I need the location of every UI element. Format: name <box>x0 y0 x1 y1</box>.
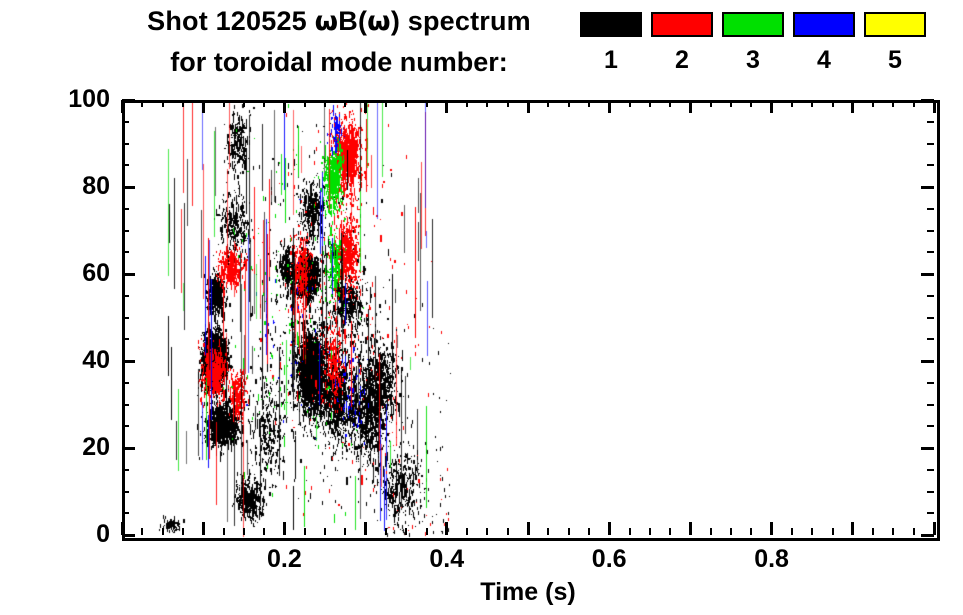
x-tick-label-0.6: 0.6 <box>564 547 654 572</box>
x-major-tick <box>608 100 611 113</box>
x-major-tick <box>202 522 205 535</box>
x-tick-label-0.4: 0.4 <box>402 547 492 572</box>
x-minor-tick <box>710 100 712 107</box>
legend-label-3: 3 <box>722 48 784 73</box>
x-minor-tick <box>730 100 732 107</box>
x-minor-tick <box>344 528 346 535</box>
x-major-tick <box>445 522 448 535</box>
legend-item-2[interactable]: 2 <box>651 12 713 90</box>
x-minor-tick <box>324 100 326 107</box>
y-minor-tick <box>122 230 129 232</box>
x-minor-tick <box>750 100 752 107</box>
y-major-tick <box>122 186 135 189</box>
x-major-tick <box>364 100 367 113</box>
y-tick-label-60: 60 <box>40 261 110 286</box>
x-minor-tick <box>405 528 407 535</box>
x-minor-tick <box>263 528 265 535</box>
x-minor-tick <box>162 528 164 535</box>
legend-item-4[interactable]: 4 <box>793 12 855 90</box>
y-major-tick <box>921 99 934 102</box>
x-major-tick <box>689 522 692 535</box>
x-minor-tick <box>547 528 549 535</box>
y-minor-tick <box>927 121 934 123</box>
x-major-tick <box>851 100 854 113</box>
x-minor-tick <box>426 100 428 107</box>
y-major-tick <box>122 360 135 363</box>
y-major-tick <box>921 186 934 189</box>
legend-swatch-1 <box>580 12 642 37</box>
spectrogram-figure: Shot 120525 ωB(ω) spectrum for toroidal … <box>0 0 963 615</box>
x-minor-tick <box>811 100 813 107</box>
x-minor-tick <box>324 528 326 535</box>
y-minor-tick <box>122 469 129 471</box>
x-major-tick <box>121 100 124 113</box>
legend-item-3[interactable]: 3 <box>722 12 784 90</box>
y-major-tick <box>921 534 934 537</box>
y-minor-tick <box>122 208 129 210</box>
x-minor-tick <box>182 100 184 107</box>
x-minor-tick <box>832 528 834 535</box>
y-major-tick <box>122 534 135 537</box>
x-minor-tick <box>162 100 164 107</box>
x-minor-tick <box>629 100 631 107</box>
y-minor-tick <box>927 469 934 471</box>
legend-swatch-3 <box>722 12 784 37</box>
x-minor-tick <box>649 100 651 107</box>
x-minor-tick <box>486 528 488 535</box>
x-major-tick <box>770 100 773 113</box>
y-minor-tick <box>927 404 934 406</box>
y-major-tick <box>122 99 135 102</box>
title-shot-prefix: Shot 120525 <box>147 6 315 36</box>
y-minor-tick <box>122 317 129 319</box>
x-tick-label-0.2: 0.2 <box>239 547 329 572</box>
legend-label-2: 2 <box>651 48 713 73</box>
y-tick-label-40: 40 <box>40 348 110 373</box>
x-minor-tick <box>466 528 468 535</box>
y-minor-tick <box>122 404 129 406</box>
x-minor-tick <box>426 528 428 535</box>
x-major-tick <box>770 522 773 535</box>
y-minor-tick <box>927 425 934 427</box>
y-major-tick <box>122 273 135 276</box>
x-minor-tick <box>243 528 245 535</box>
y-minor-tick <box>927 295 934 297</box>
x-major-tick <box>933 100 936 113</box>
y-minor-tick <box>927 512 934 514</box>
y-minor-tick <box>927 143 934 145</box>
x-minor-tick <box>243 100 245 107</box>
x-minor-tick <box>791 100 793 107</box>
x-major-tick <box>445 100 448 113</box>
x-major-tick <box>202 100 205 113</box>
x-minor-tick <box>507 100 509 107</box>
x-minor-tick <box>385 528 387 535</box>
omega-symbol-1: ω <box>315 6 339 37</box>
y-minor-tick <box>122 491 129 493</box>
x-minor-tick <box>466 100 468 107</box>
y-minor-tick <box>927 164 934 166</box>
y-minor-tick <box>122 512 129 514</box>
omega-symbol-2: ω <box>367 6 391 37</box>
x-minor-tick <box>223 100 225 107</box>
x-minor-tick <box>811 528 813 535</box>
x-minor-tick <box>629 528 631 535</box>
plot-area <box>122 100 940 541</box>
y-tick-label-20: 20 <box>40 435 110 460</box>
legend-label-5: 5 <box>864 48 926 73</box>
y-major-tick <box>921 360 934 363</box>
x-minor-tick <box>913 528 915 535</box>
y-minor-tick <box>122 143 129 145</box>
x-tick-label-0.8: 0.8 <box>727 547 817 572</box>
x-minor-tick <box>588 100 590 107</box>
x-minor-tick <box>669 528 671 535</box>
x-minor-tick <box>892 528 894 535</box>
x-minor-tick <box>344 100 346 107</box>
figure-title-line-1: Shot 120525 ωB(ω) spectrum <box>104 6 574 37</box>
y-minor-tick <box>122 251 129 253</box>
x-major-tick <box>527 522 530 535</box>
x-minor-tick <box>547 100 549 107</box>
x-major-tick <box>851 522 854 535</box>
legend: 12345 <box>580 12 930 90</box>
x-major-tick <box>689 100 692 113</box>
y-minor-tick <box>927 230 934 232</box>
x-axis-title: Time (s) <box>122 578 934 607</box>
x-minor-tick <box>892 100 894 107</box>
x-minor-tick <box>507 528 509 535</box>
x-minor-tick <box>730 528 732 535</box>
x-minor-tick <box>263 100 265 107</box>
x-minor-tick <box>791 528 793 535</box>
y-minor-tick <box>122 121 129 123</box>
x-major-tick <box>364 522 367 535</box>
y-tick-label-0: 0 <box>40 522 110 547</box>
x-major-tick <box>527 100 530 113</box>
x-minor-tick <box>385 100 387 107</box>
legend-swatch-4 <box>793 12 855 37</box>
x-minor-tick <box>182 528 184 535</box>
legend-swatch-2 <box>651 12 713 37</box>
y-minor-tick <box>927 491 934 493</box>
x-minor-tick <box>872 100 874 107</box>
x-minor-tick <box>223 528 225 535</box>
x-major-tick <box>608 522 611 535</box>
y-tick-label-80: 80 <box>40 174 110 199</box>
y-tick-label-100: 100 <box>40 87 110 112</box>
legend-swatch-5 <box>864 12 926 37</box>
x-minor-tick <box>304 100 306 107</box>
y-minor-tick <box>927 382 934 384</box>
spectrogram-canvas <box>125 103 937 538</box>
x-minor-tick <box>304 528 306 535</box>
y-minor-tick <box>927 251 934 253</box>
x-minor-tick <box>141 528 143 535</box>
x-minor-tick <box>283 100 285 107</box>
y-minor-tick <box>927 338 934 340</box>
x-minor-tick <box>649 528 651 535</box>
y-major-tick <box>122 447 135 450</box>
x-minor-tick <box>568 528 570 535</box>
x-minor-tick <box>486 100 488 107</box>
y-minor-tick <box>927 208 934 210</box>
y-minor-tick <box>122 338 129 340</box>
x-minor-tick <box>872 528 874 535</box>
title-b-open: B( <box>338 6 367 36</box>
x-minor-tick <box>710 528 712 535</box>
y-minor-tick <box>122 164 129 166</box>
x-minor-tick <box>913 100 915 107</box>
y-major-tick <box>921 447 934 450</box>
x-minor-tick <box>832 100 834 107</box>
legend-label-4: 4 <box>793 48 855 73</box>
y-minor-tick <box>122 382 129 384</box>
x-minor-tick <box>588 528 590 535</box>
legend-label-1: 1 <box>580 48 642 73</box>
y-minor-tick <box>122 425 129 427</box>
x-minor-tick <box>750 528 752 535</box>
legend-item-5[interactable]: 5 <box>864 12 926 90</box>
x-minor-tick <box>669 100 671 107</box>
figure-title-line-2: for toroidal mode number: <box>104 47 574 78</box>
x-minor-tick <box>141 100 143 107</box>
y-minor-tick <box>122 295 129 297</box>
x-minor-tick <box>405 100 407 107</box>
y-major-tick <box>921 273 934 276</box>
legend-item-1[interactable]: 1 <box>580 12 642 90</box>
x-minor-tick <box>283 528 285 535</box>
title-spectrum-suffix: ) spectrum <box>391 6 531 36</box>
y-minor-tick <box>927 317 934 319</box>
x-minor-tick <box>568 100 570 107</box>
